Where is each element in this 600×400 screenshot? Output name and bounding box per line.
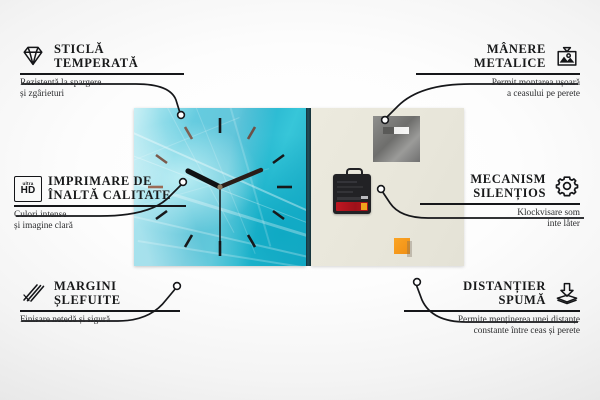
callout-title-line1: DISTANȚIER xyxy=(463,279,546,293)
callout-title-line2: ȘLEFUITE xyxy=(54,293,121,307)
callout-title-line2: METALICE xyxy=(474,56,546,70)
foam-spacer xyxy=(394,238,410,254)
press-down-arrow-icon xyxy=(554,281,580,305)
battery xyxy=(336,202,368,211)
gear-icon xyxy=(554,174,580,198)
callout-title-line2: TEMPERATĂ xyxy=(54,56,138,70)
callout-title-line1: MÂNERE xyxy=(474,42,546,56)
metal-hanger xyxy=(373,116,420,162)
callout-metal-handles: MÂNERE METALICE Permit montarea ușoară a… xyxy=(416,42,580,101)
callout-rule xyxy=(404,310,580,312)
callout-header: MECANISM SILENȚIOS xyxy=(420,172,580,200)
callout-subtitle: Culori intense și imagine clară xyxy=(14,210,186,233)
callout-rule xyxy=(20,73,184,75)
callout-title-line1: STICLĂ xyxy=(54,42,138,56)
callout-subtitle: Permit montarea ușoară a ceasului pe per… xyxy=(416,78,580,101)
callout-header: MARGINI ȘLEFUITE xyxy=(20,279,180,307)
hanging-frame-icon xyxy=(554,44,580,68)
callout-header: MÂNERE METALICE xyxy=(416,42,580,70)
callout-header: DISTANȚIER SPUMĂ xyxy=(404,279,580,307)
callout-title-line2: ÎNALTĂ CALITATE xyxy=(48,188,171,202)
callout-title-line1: MARGINI xyxy=(54,279,121,293)
hanger-slot xyxy=(383,127,409,134)
callout-tempered-glass: STICLĂ TEMPERATĂ Rezistentă la spargere … xyxy=(20,42,184,101)
callout-title-line2: SILENȚIOS xyxy=(470,186,546,200)
ultra-hd-icon: ultra HD xyxy=(14,176,40,200)
callout-subtitle: Klockvisare som inte låter xyxy=(420,208,580,231)
diagonal-lines-icon xyxy=(20,281,46,305)
callout-subtitle: Finisare netedă și sigură xyxy=(20,315,180,327)
callout-subtitle: Rezistentă la spargere și zgârieturi xyxy=(20,78,184,101)
callout-title-line1: MECANISM xyxy=(470,172,546,186)
callout-subtitle: Permite menținerea unei distanțe constan… xyxy=(404,315,580,338)
callout-title-line2: SPUMĂ xyxy=(463,293,546,307)
callout-header: ultra HD IMPRIMARE DE ÎNALTĂ CALITATE xyxy=(14,174,186,202)
callout-rule xyxy=(416,73,580,75)
callout-silent-mechanism: MECANISM SILENȚIOS Klockvisare som inte … xyxy=(420,172,580,231)
clock-mechanism xyxy=(333,174,371,214)
callout-polished-edges: MARGINI ȘLEFUITE Finisare netedă și sigu… xyxy=(20,279,180,326)
callout-rule xyxy=(20,310,180,312)
mechanism-hook xyxy=(346,168,363,179)
callout-high-quality-print: ultra HD IMPRIMARE DE ÎNALTĂ CALITATE Cu… xyxy=(14,174,186,233)
infographic-canvas: STICLĂ TEMPERATĂ Rezistentă la spargere … xyxy=(0,0,600,400)
callout-rule xyxy=(420,203,580,205)
callout-title-line1: IMPRIMARE DE xyxy=(48,174,171,188)
callout-header: STICLĂ TEMPERATĂ xyxy=(20,42,184,70)
diamond-icon xyxy=(20,44,46,68)
callout-rule xyxy=(14,205,186,207)
callout-foam-spacer: DISTANȚIER SPUMĂ Permite menținerea unei… xyxy=(404,279,580,338)
